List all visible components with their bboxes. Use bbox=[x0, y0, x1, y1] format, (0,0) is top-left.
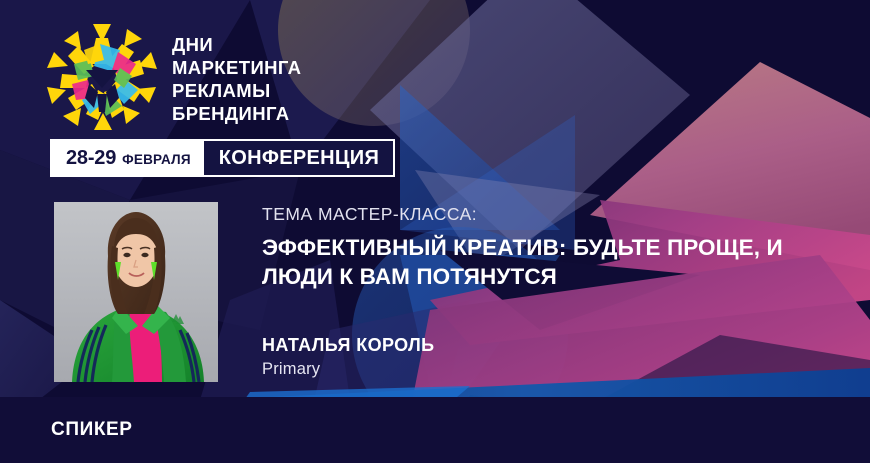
logo-line-1: ДНИ bbox=[172, 33, 301, 56]
footer-label: СПИКЕР bbox=[51, 419, 133, 441]
speaker-info: НАТАЛЬЯ КОРОЛЬ Primary bbox=[262, 334, 434, 380]
logo-line-4: БРЕНДИНГА bbox=[172, 102, 301, 125]
speaker-role: Primary bbox=[262, 358, 434, 380]
event-logo: ДНИ МАРКЕТИНГА РЕКЛАМЫ БРЕНДИНГА bbox=[46, 22, 301, 134]
logo-wordmark: ДНИ МАРКЕТИНГА РЕКЛАМЫ БРЕНДИНГА bbox=[172, 33, 301, 125]
logo-line-3: РЕКЛАМЫ bbox=[172, 79, 301, 102]
speaker-photo bbox=[54, 202, 218, 382]
badge-date-section: 28-29 ФЕВРАЛЯ bbox=[52, 141, 204, 175]
badge-event-type: КОНФЕРЕНЦИЯ bbox=[204, 141, 393, 175]
speaker-portrait-illustration bbox=[54, 202, 218, 382]
masterclass-kicker: ТЕМА МАСТЕР-КЛАССА: bbox=[262, 203, 822, 225]
speaker-name: НАТАЛЬЯ КОРОЛЬ bbox=[262, 334, 434, 357]
event-date-badge: 28-29 ФЕВРАЛЯ КОНФЕРЕНЦИЯ bbox=[50, 139, 395, 177]
sunburst-star-logo-icon bbox=[46, 22, 158, 134]
footer-bar: СПИКЕР bbox=[0, 397, 870, 463]
masterclass-topic: ЭФФЕКТИВНЫЙ КРЕАТИВ: БУДЬТЕ ПРОЩЕ, И ЛЮД… bbox=[262, 233, 802, 291]
badge-date-number: 28-29 bbox=[66, 141, 116, 175]
speaker-announcement-banner: ДНИ МАРКЕТИНГА РЕКЛАМЫ БРЕНДИНГА 28-29 Ф… bbox=[0, 0, 870, 463]
masterclass-content: ТЕМА МАСТЕР-КЛАССА: ЭФФЕКТИВНЫЙ КРЕАТИВ:… bbox=[262, 203, 822, 291]
badge-date-month: ФЕВРАЛЯ bbox=[122, 143, 191, 177]
logo-line-2: МАРКЕТИНГА bbox=[172, 56, 301, 79]
